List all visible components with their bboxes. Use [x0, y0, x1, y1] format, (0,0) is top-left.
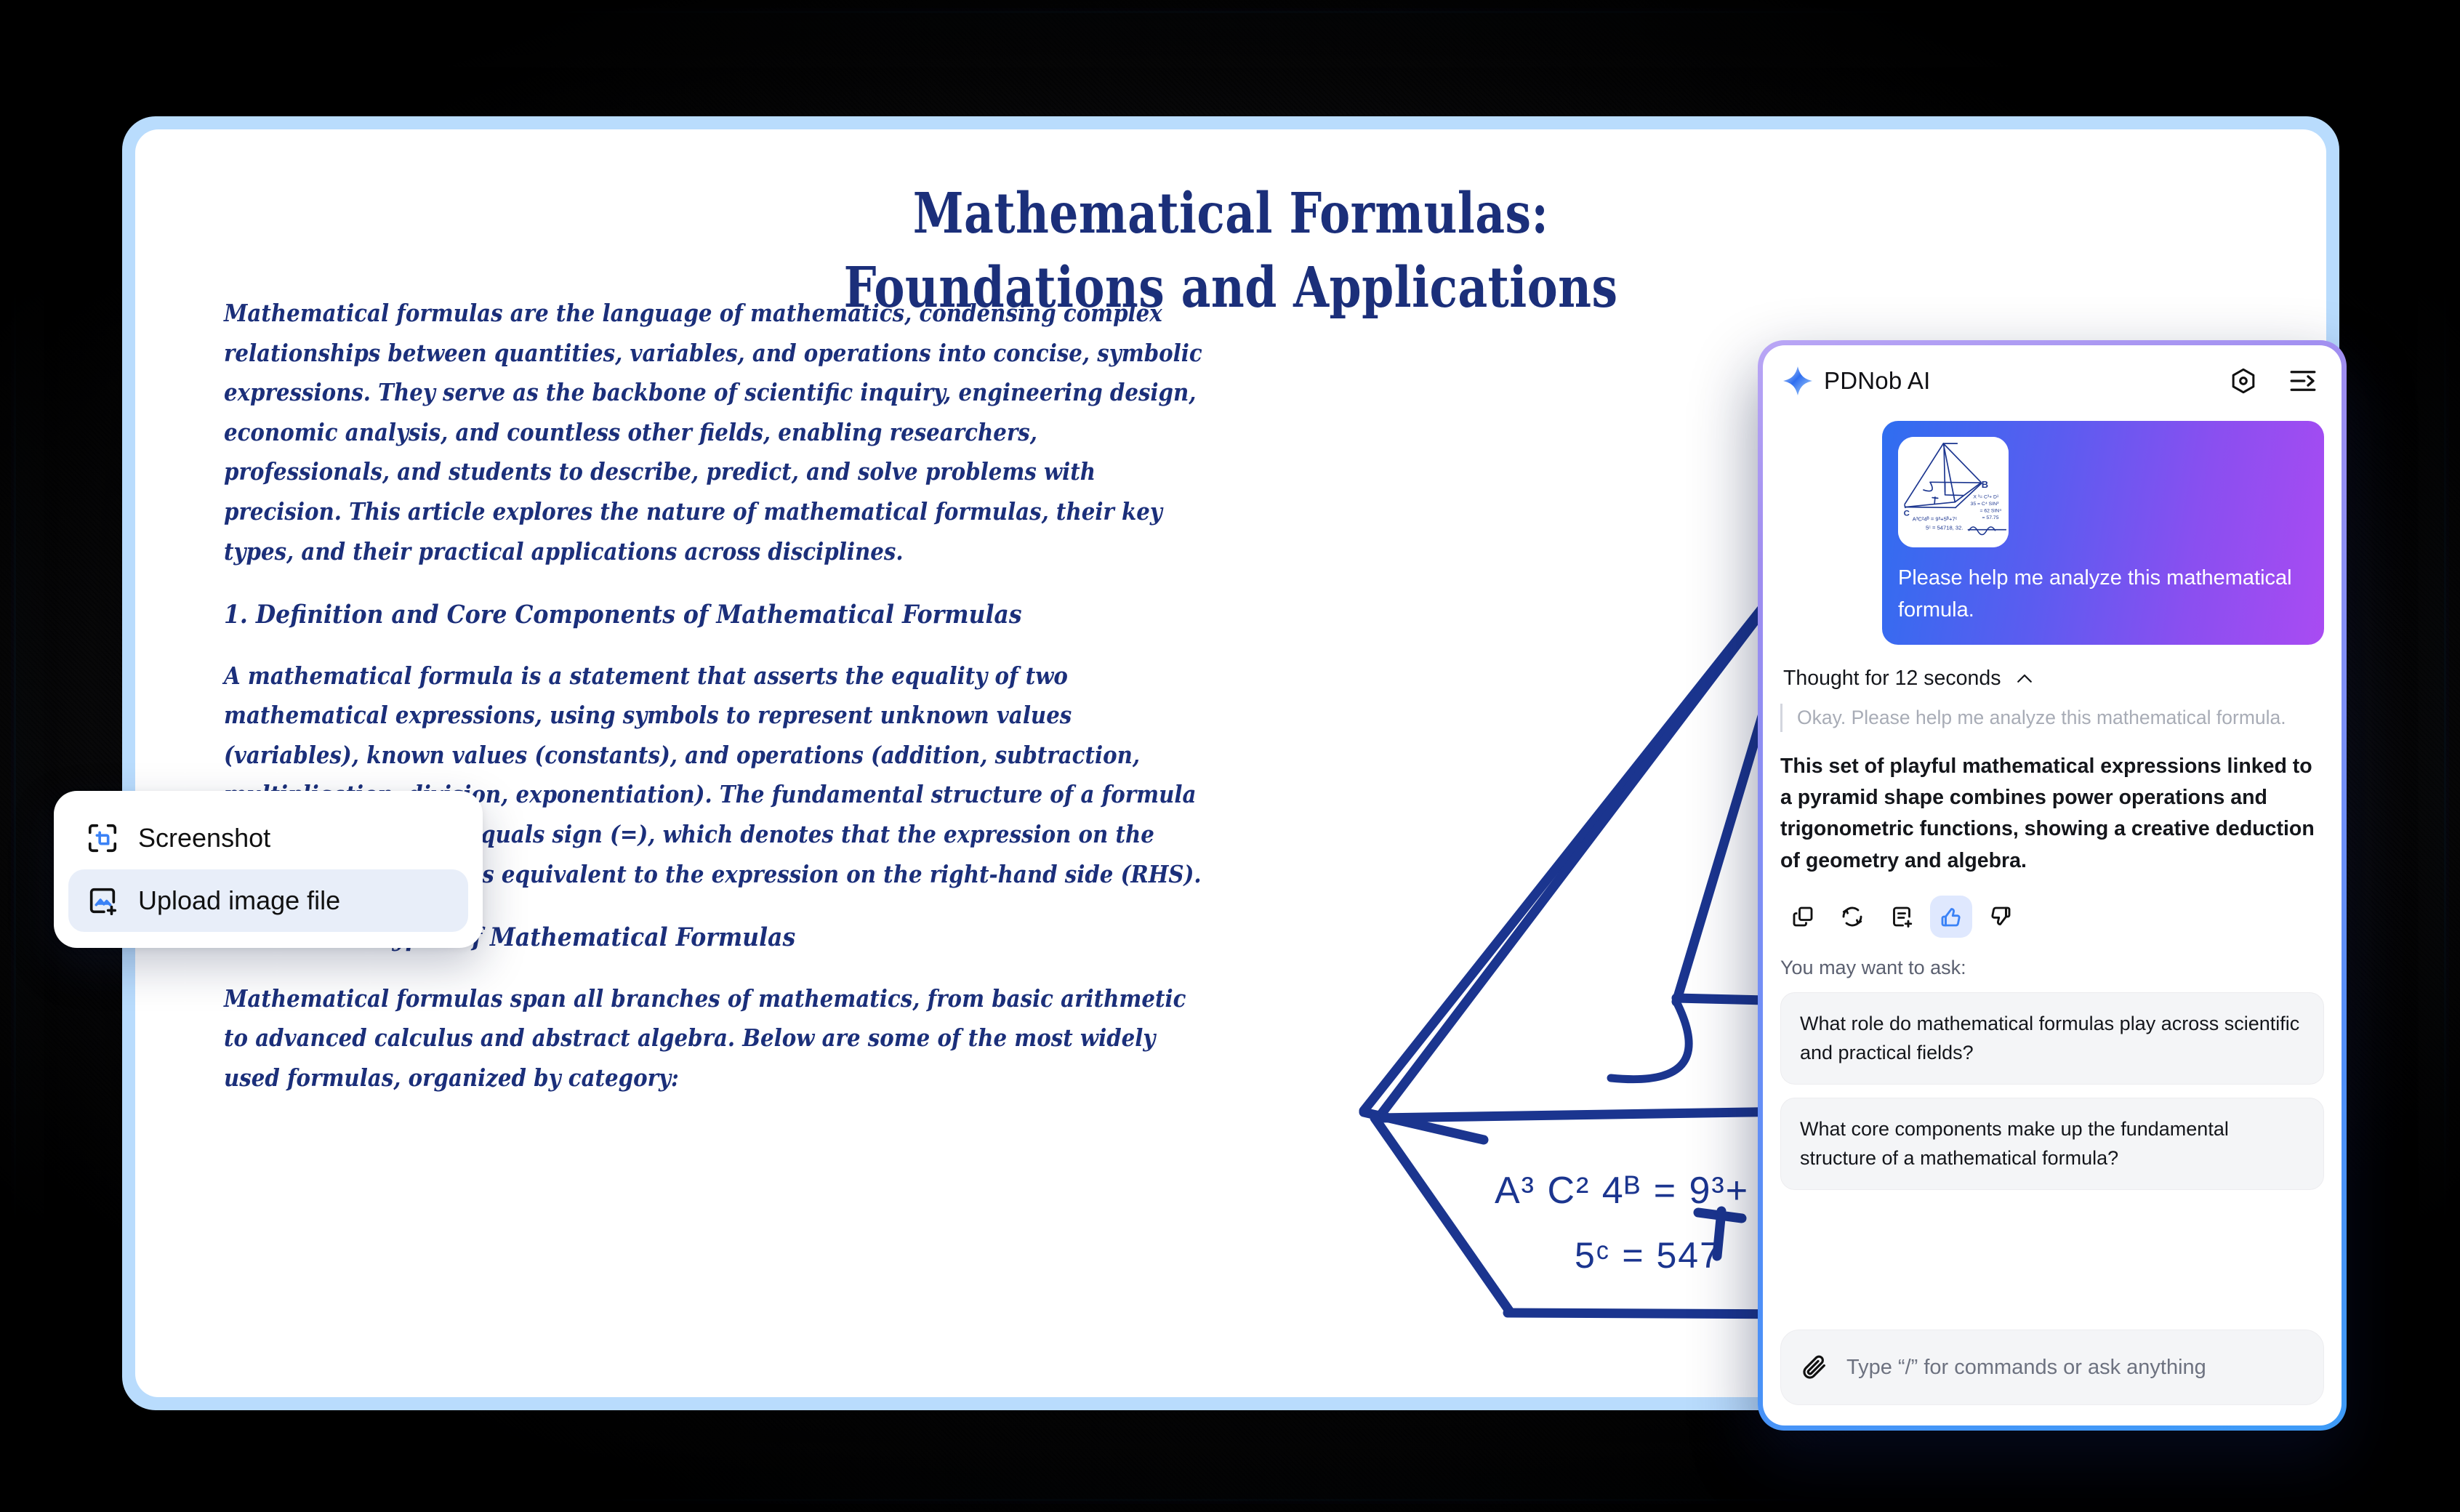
ai-panel-header: PDNob AI [1763, 345, 2342, 408]
thought-toggle[interactable]: Thought for 12 seconds [1780, 667, 2324, 691]
sketch-formula-line-2: 5ᶜ = 547 [1575, 1234, 1721, 1276]
menu-item-upload-image-file-label: Upload image file [138, 885, 340, 916]
upload-image-icon [86, 884, 119, 917]
screenshot-icon [86, 821, 119, 855]
suggestion-card[interactable]: What core components make up the fundame… [1780, 1098, 2324, 1190]
chevron-up-icon [2014, 668, 2035, 690]
add-to-note-icon[interactable] [1881, 896, 1923, 938]
suggestion-card[interactable]: What role do mathematical formulas play … [1780, 992, 2324, 1085]
pdnob-ai-panel: PDNob AI [1758, 340, 2347, 1431]
thought-label: Thought for 12 seconds [1783, 667, 2001, 691]
user-message-bubble: B C X ³= C³+ D¹ 35 = C⁴ SIN³ = 62 SIN⁴ =… [1882, 421, 2324, 645]
thumbs-down-icon[interactable] [1979, 896, 2022, 938]
attach-context-menu: Screenshot Upload image file [54, 791, 483, 948]
pdnob-ai-panel-inner: PDNob AI [1763, 345, 2342, 1425]
document-body: Mathematical formulas are the language o… [224, 294, 1314, 1119]
svg-text:A³C²4ᴮ = 9³+5ᴮ+7ᶜ: A³C²4ᴮ = 9³+5ᴮ+7ᶜ [1913, 516, 1958, 523]
thought-quote: Okay. Please help me analyze this mathem… [1780, 704, 2324, 731]
message-actions [1780, 896, 2324, 938]
assistant-answer: This set of playful mathematical express… [1780, 751, 2324, 877]
svg-text:B: B [1982, 479, 1988, 490]
menu-item-screenshot-label: Screenshot [138, 823, 270, 853]
menu-item-upload-image-file[interactable]: Upload image file [68, 869, 468, 932]
menu-item-screenshot[interactable]: Screenshot [68, 807, 468, 869]
svg-text:X ³= C³+ D¹: X ³= C³+ D¹ [1973, 494, 1999, 499]
suggestions-label: You may want to ask: [1780, 957, 2324, 979]
sketch-formula-line-1: A³ C² 4ᴮ = 9³+ [1495, 1169, 1749, 1213]
regenerate-icon[interactable] [1831, 896, 1873, 938]
intro-paragraph: Mathematical formulas are the language o… [224, 294, 1205, 571]
section-heading-1: 1. Definition and Core Components of Mat… [224, 596, 1205, 635]
pdnob-logo-icon [1782, 365, 1814, 397]
svg-text:= 57.75: = 57.75 [1982, 515, 1999, 520]
svg-text:C: C [1904, 510, 1910, 518]
svg-text:= 62 SIN⁴: = 62 SIN⁴ [1979, 508, 2001, 513]
svg-text:5ᶜ = 54718, 32.: 5ᶜ = 54718, 32. [1926, 525, 1963, 531]
attachment-thumbnail[interactable]: B C X ³= C³+ D¹ 35 = C⁴ SIN³ = 62 SIN⁴ =… [1898, 437, 2009, 547]
collapse-panel-icon[interactable] [2286, 364, 2320, 398]
ai-input-area: Type “/” for commands or ask anything [1763, 1314, 2342, 1425]
user-message-row: B C X ³= C³+ D¹ 35 = C⁴ SIN³ = 62 SIN⁴ =… [1780, 421, 2324, 645]
user-message-text: Please help me analyze this mathematical… [1898, 562, 2308, 626]
svg-text:35 = C⁴ SIN³: 35 = C⁴ SIN³ [1971, 502, 2000, 507]
settings-nut-icon[interactable] [2227, 364, 2260, 398]
thumbs-up-icon[interactable] [1930, 896, 1972, 938]
ai-panel-title: PDNob AI [1824, 367, 1931, 395]
ai-input-box[interactable]: Type “/” for commands or ask anything [1780, 1330, 2324, 1405]
section-2-paragraph: Mathematical formulas span all branches … [224, 979, 1205, 1098]
ai-conversation: B C X ³= C³+ D¹ 35 = C⁴ SIN³ = 62 SIN⁴ =… [1763, 408, 2342, 1314]
copy-icon[interactable] [1782, 896, 1824, 938]
page-title-line-1: Mathematical Formulas: [332, 177, 2129, 252]
paperclip-icon[interactable] [1800, 1353, 1829, 1382]
ai-input-placeholder: Type “/” for commands or ask anything [1846, 1356, 2206, 1380]
